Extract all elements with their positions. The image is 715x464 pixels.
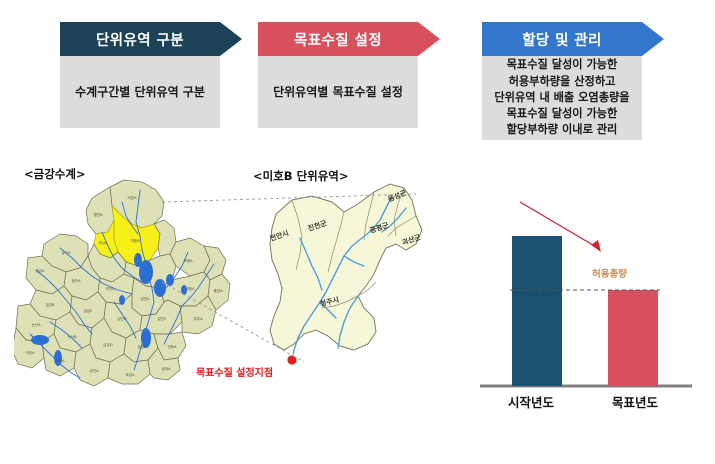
process-step-2-body-text: 단위유역별 목표수질 설정 bbox=[267, 83, 409, 102]
process-step-2-arrow-tip-icon bbox=[418, 22, 440, 56]
process-step-1-body-text: 수계구간별 단위유역 구분 bbox=[69, 83, 211, 102]
svg-text:무심A: 무심A bbox=[98, 240, 108, 245]
svg-text:갑천C: 갑천C bbox=[157, 316, 167, 321]
process-step-3-title: 할당 및 관리 bbox=[482, 22, 642, 56]
svg-text:유구A: 유구A bbox=[61, 251, 71, 255]
basin-subbasin-polygons bbox=[14, 180, 230, 386]
svg-text:금강E: 금강E bbox=[138, 344, 148, 349]
chart-xtick-target-year: 목표년도 bbox=[600, 392, 670, 411]
chart-allowable-load-label: 허용총량 bbox=[592, 266, 627, 280]
svg-text:미호A: 미호A bbox=[127, 195, 137, 200]
chart-reduction-arrow-head-icon bbox=[591, 240, 601, 252]
process-step-1-arrow-tip-icon bbox=[220, 22, 242, 56]
svg-text:석성A: 석성A bbox=[25, 350, 35, 355]
svg-text:논산B: 논산B bbox=[67, 334, 77, 339]
chart-bar-target-year bbox=[608, 290, 658, 386]
svg-text:갑천A: 갑천A bbox=[140, 296, 150, 301]
svg-text:금천A: 금천A bbox=[89, 368, 99, 373]
svg-text:논산A: 논산A bbox=[31, 322, 41, 327]
chart-xtick-start-year: 시작년도 bbox=[496, 392, 566, 411]
process-step-3-body-text: 목표수질 달성이 가능한허용부하량을 산정하고단위유역 내 배출 오염총량을목표… bbox=[492, 57, 631, 138]
svg-text:대청A: 대청A bbox=[185, 286, 195, 291]
svg-text:보청A: 보청A bbox=[183, 258, 193, 263]
process-step-3-arrow-tip-icon bbox=[642, 22, 664, 56]
process-step-1-banner: 단위유역 구분 bbox=[60, 22, 220, 56]
process-step-1-title: 단위유역 구분 bbox=[60, 22, 220, 56]
process-step-1: 단위유역 구분 수계구간별 단위유역 구분 bbox=[60, 22, 220, 128]
svg-text:초강A: 초강A bbox=[125, 372, 135, 377]
svg-text:병천A: 병천A bbox=[93, 212, 103, 217]
svg-text:미호B: 미호B bbox=[130, 238, 140, 243]
svg-text:남대A: 남대A bbox=[161, 366, 171, 371]
target-water-quality-point-label: 목표수질 설정지점 bbox=[196, 364, 273, 379]
process-step-3: 할당 및 관리 목표수질 달성이 가능한허용부하량을 산정하고단위유역 내 배출… bbox=[482, 22, 642, 140]
svg-text:갑천B: 갑천B bbox=[117, 316, 127, 321]
target-water-quality-point-marker bbox=[287, 355, 297, 365]
svg-text:금강C: 금강C bbox=[83, 308, 93, 313]
process-step-2-body: 단위유역별 목표수질 설정 bbox=[258, 56, 418, 128]
allocation-bar-chart-svg bbox=[470, 190, 705, 415]
unit-watershed-outline bbox=[270, 184, 422, 350]
process-step-3-banner: 할당 및 관리 bbox=[482, 22, 642, 56]
svg-text:무주A: 무주A bbox=[193, 317, 203, 321]
process-step-1-body: 수계구간별 단위유역 구분 bbox=[60, 56, 220, 128]
allocation-bar-chart bbox=[470, 190, 705, 415]
diagram-root: 단위유역 구분 수계구간별 단위유역 구분 목표수질 설정 단위유역별 목표수질… bbox=[0, 0, 715, 464]
unit-map-svg: 음성군 진천군 천안시 증평군 괴산군 청주시 bbox=[240, 178, 430, 393]
unit-map: 음성군 진천군 천안시 증평군 괴산군 청주시 bbox=[240, 178, 430, 393]
svg-text:금강D: 금강D bbox=[103, 342, 113, 347]
svg-text:금강B: 금강B bbox=[45, 302, 55, 307]
svg-text:부여A: 부여A bbox=[55, 358, 65, 363]
process-step-2-title: 목표수질 설정 bbox=[258, 22, 418, 56]
svg-text:영동A: 영동A bbox=[167, 344, 177, 349]
process-step-3-body: 목표수질 달성이 가능한허용부하량을 산정하고단위유역 내 배출 오염총량을목표… bbox=[482, 56, 642, 140]
process-step-2-banner: 목표수질 설정 bbox=[258, 22, 418, 56]
svg-text:정안A: 정안A bbox=[71, 278, 81, 283]
process-step-2: 목표수질 설정 단위유역별 목표수질 설정 bbox=[258, 22, 418, 128]
svg-text:금강A: 금강A bbox=[35, 268, 45, 273]
svg-text:조천A: 조천A bbox=[105, 286, 115, 291]
chart-bar-start-year bbox=[512, 236, 562, 386]
svg-text:용담A: 용담A bbox=[213, 288, 223, 293]
